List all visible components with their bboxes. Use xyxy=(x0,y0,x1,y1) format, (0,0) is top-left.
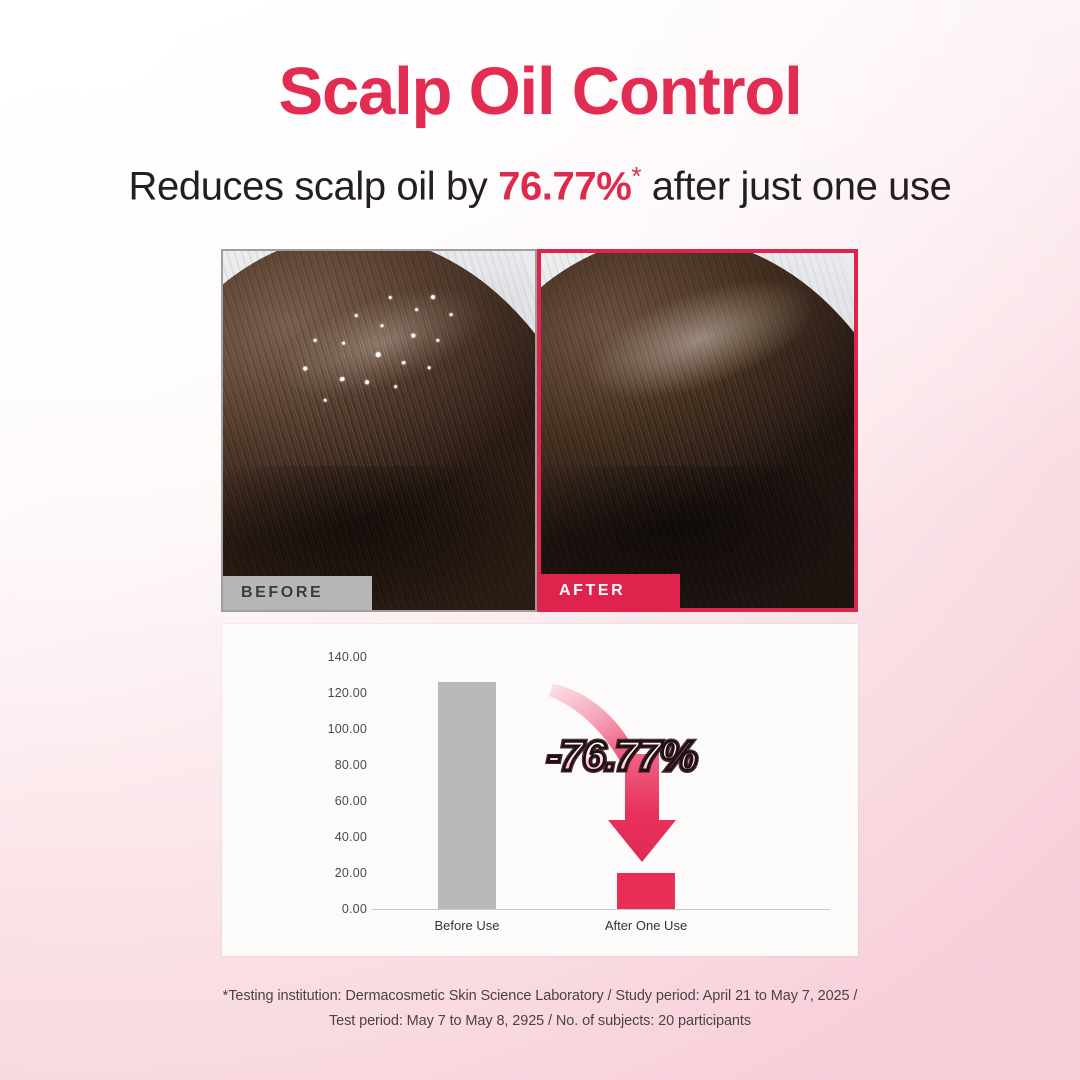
results-bar-chart: 140.00 120.00 100.00 80.00 60.00 40.00 2… xyxy=(222,624,858,956)
y-tick-80: 80.00 xyxy=(335,758,367,772)
chart-plot-area: 140.00 120.00 100.00 80.00 60.00 40.00 2… xyxy=(222,624,858,956)
x-label-before-use: Before Use xyxy=(434,918,499,933)
before-photo-pane: BEFORE xyxy=(221,249,537,612)
y-tick-0: 0.00 xyxy=(342,902,367,916)
bar-before-use xyxy=(438,682,496,909)
subtitle-prefix: Reduces scalp oil by xyxy=(129,164,499,208)
footnote-line-1: *Testing institution: Dermacosmetic Skin… xyxy=(0,984,1080,1009)
subtitle: Reduces scalp oil by 76.77%* after just … xyxy=(0,163,1080,206)
y-tick-20: 20.00 xyxy=(335,866,367,880)
scalp-image-after xyxy=(541,253,854,608)
y-tick-140: 140.00 xyxy=(328,650,367,664)
footnote-line-2: Test period: May 7 to May 8, 2925 / No. … xyxy=(0,1009,1080,1034)
y-tick-120: 120.00 xyxy=(328,686,367,700)
y-tick-60: 60.00 xyxy=(335,794,367,808)
bar-after-one-use xyxy=(617,873,675,909)
x-axis-line xyxy=(372,909,830,910)
delta-label: -76.77% xyxy=(547,732,696,780)
scalp-image-before xyxy=(223,251,535,610)
ad-creative-canvas: Scalp Oil Control Reduces scalp oil by 7… xyxy=(0,0,1080,1080)
subtitle-percent: 76.77% xyxy=(498,164,631,208)
after-photo-pane: AFTER xyxy=(537,249,858,612)
before-label-badge: BEFORE xyxy=(223,576,372,610)
page-title: Scalp Oil Control xyxy=(0,58,1080,125)
after-label-badge: AFTER xyxy=(541,574,680,608)
y-axis-tick-labels: 140.00 120.00 100.00 80.00 60.00 40.00 2… xyxy=(304,624,367,956)
footnote: *Testing institution: Dermacosmetic Skin… xyxy=(0,984,1080,1034)
y-tick-40: 40.00 xyxy=(335,830,367,844)
before-after-comparison: BEFORE AFTER xyxy=(221,249,858,612)
x-label-after-one-use: After One Use xyxy=(605,918,687,933)
y-tick-100: 100.00 xyxy=(328,722,367,736)
subtitle-asterisk: * xyxy=(631,161,641,191)
subtitle-suffix: after just one use xyxy=(641,164,951,208)
